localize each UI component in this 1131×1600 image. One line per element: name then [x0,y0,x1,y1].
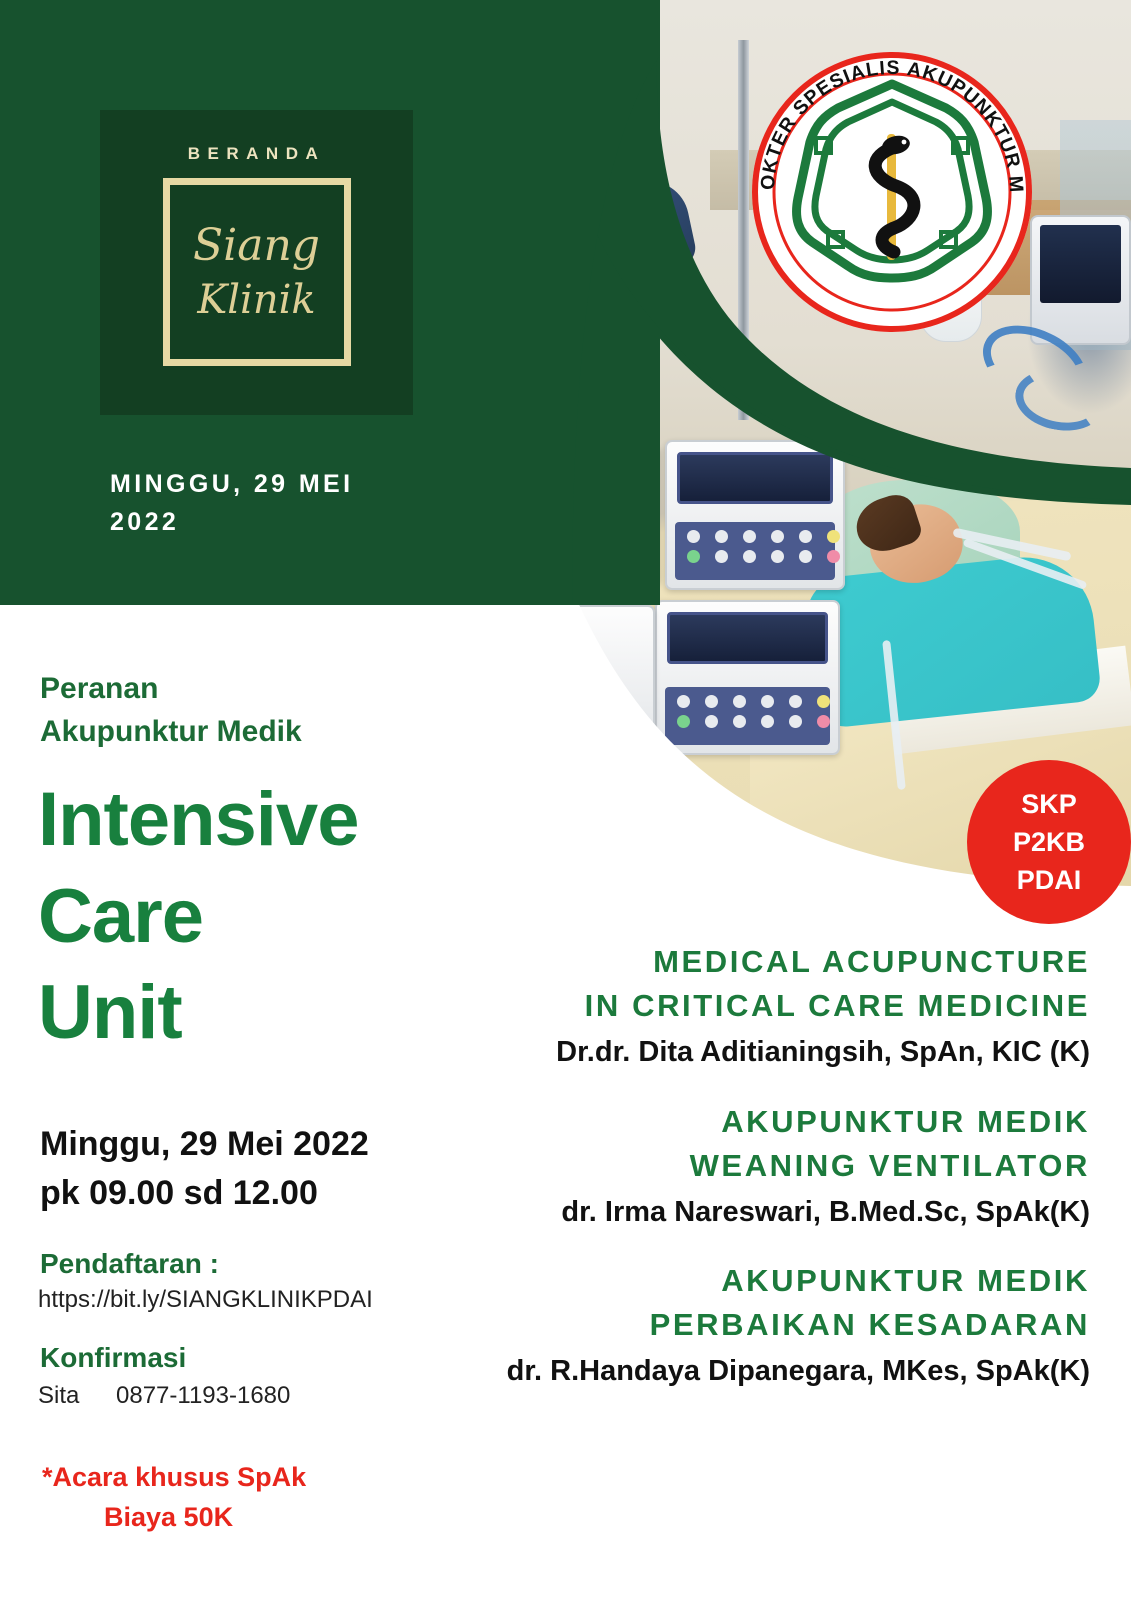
talk-title: AKUPUNKTUR MEDIK PERBAIKAN KESADARAN [430,1259,1090,1347]
talk-title-line2: PERBAIKAN KESADARAN [430,1303,1090,1347]
talk-title-line2: WEANING VENTILATOR [430,1144,1090,1188]
talk-speaker: dr. Irma Nareswari, B.Med.Sc, SpAk(K) [430,1194,1090,1232]
talk-title-line1: MEDICAL ACUPUNCTURE [430,940,1090,984]
title-line1: Intensive [38,772,468,869]
panel-date: MINGGU, 29 MEI 2022 [110,466,530,541]
note-fee: Biaya 50K [104,1502,233,1533]
brand-script-line2: Klinik [193,280,320,320]
skp-badge-line3: PDAI [1017,861,1082,899]
panel-date-line1: MINGGU, 29 MEI [110,466,530,504]
talk-title: AKUPUNKTUR MEDIK WEANING VENTILATOR [430,1100,1090,1188]
confirmation-contact: Sita0877-1193-1680 [38,1382,290,1410]
note-special-event: *Acara khusus SpAk [42,1462,306,1493]
talk-item: MEDICAL ACUPUNCTURE IN CRITICAL CARE MED… [430,940,1090,1072]
title-line2: Care [38,869,468,966]
talk-item: AKUPUNKTUR MEDIK PERBAIKAN KESADARAN dr.… [430,1259,1090,1391]
headline-eyebrow-line1: Peranan [40,668,470,711]
talk-title-line2: IN CRITICAL CARE MEDICINE [430,984,1090,1028]
talk-item: AKUPUNKTUR MEDIK WEANING VENTILATOR dr. … [430,1100,1090,1232]
skp-badge: SKP P2KB PDAI [967,760,1131,924]
poster-canvas: BERANDA Siang Klinik MINGGU, 29 MEI 2022… [0,0,1131,1600]
talk-speaker: Dr.dr. Dita Aditianingsih, SpAn, KIC (K) [430,1034,1090,1072]
skp-badge-line1: SKP [1021,785,1077,823]
talk-title-line1: AKUPUNKTUR MEDIK [430,1100,1090,1144]
contact-name: Sita [38,1382,116,1410]
registration-label: Pendaftaran : [40,1248,219,1280]
brand-logo-box: BERANDA Siang Klinik [100,110,413,415]
talk-title: MEDICAL ACUPUNCTURE IN CRITICAL CARE MED… [430,940,1090,1028]
talks-list: MEDICAL ACUPUNCTURE IN CRITICAL CARE MED… [430,940,1090,1419]
headline-eyebrow-line2: Akupunktur Medik [40,711,470,754]
confirmation-label: Konfirmasi [40,1342,186,1374]
registration-link[interactable]: https://bit.ly/SIANGKLINIKPDAI [38,1286,373,1314]
brand-frame: Siang Klinik [163,178,351,366]
title-line3: Unit [38,965,468,1062]
contact-phone[interactable]: 0877-1193-1680 [116,1382,290,1409]
brand-script-line1: Siang [193,224,320,268]
headline-eyebrow: Peranan Akupunktur Medik [40,668,470,753]
talk-speaker: dr. R.Handaya Dipanegara, MKes, SpAk(K) [430,1353,1090,1391]
page-title: Intensive Care Unit [38,772,468,1062]
brand-script: Siang Klinik [193,224,320,320]
panel-date-line2: 2022 [110,504,530,542]
brand-name: BERANDA [188,144,326,164]
pdai-seal: PERHIMPUNAN DOKTER SPESIALIS AKUPUNKTUR … [746,46,1038,338]
talk-title-line1: AKUPUNKTUR MEDIK [430,1259,1090,1303]
skp-badge-line2: P2KB [1013,823,1085,861]
